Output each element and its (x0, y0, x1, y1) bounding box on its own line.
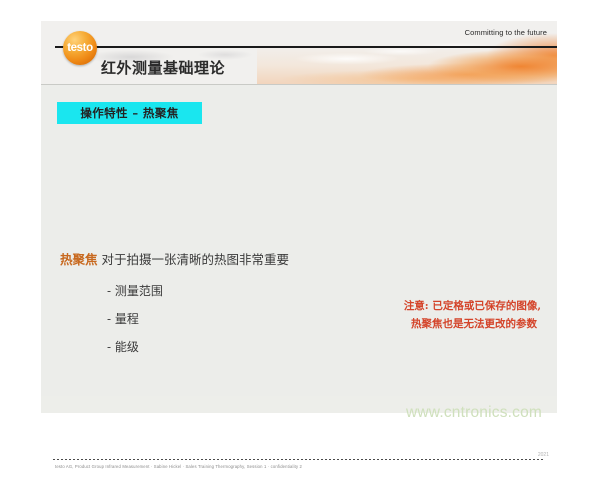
lead-statement: 热聚焦对于拍摄一张清晰的热图非常重要 (60, 249, 289, 268)
bullet-list: - 测量范围 - 量程 - 能级 (107, 277, 163, 361)
slide-body: 操作特性 – 热聚焦 热聚焦对于拍摄一张清晰的热图非常重要 - 测量范围 - 量… (41, 84, 557, 396)
header-rule (55, 46, 557, 48)
section-heading-banner: 操作特性 – 热聚焦 (57, 102, 202, 124)
testo-logo-label: testo (63, 42, 97, 54)
list-item: - 量程 (107, 305, 163, 333)
testo-logo-icon: testo (63, 31, 97, 65)
brand-tagline: Committing to the future (465, 28, 547, 37)
site-watermark: www.cntronics.com (406, 404, 542, 422)
page-title: 红外测量基础理论 (101, 57, 225, 78)
lead-keyword: 热聚焦 (60, 252, 98, 267)
warning-note: 注意: 已定格或已保存的图像, 热聚焦也是无法更改的参数 (211, 297, 541, 333)
list-item: - 能级 (107, 333, 163, 361)
slide-number: 2021 (538, 452, 549, 458)
warning-note-line-2: 热聚焦也是无法更改的参数 (211, 315, 541, 333)
section-heading-label: 操作特性 – 热聚焦 (57, 102, 202, 124)
footer-credit: testo AG, Product Group Infrared Measure… (55, 464, 302, 469)
lead-rest: 对于拍摄一张清晰的热图非常重要 (102, 252, 290, 267)
slide-header: Committing to the future testo 红外测量基础理论 (41, 21, 557, 84)
list-item: - 测量范围 (107, 277, 163, 305)
warning-note-line-1: 注意: 已定格或已保存的图像, (211, 297, 541, 315)
footer-divider (53, 459, 545, 460)
slide-canvas: Committing to the future testo 红外测量基础理论 … (41, 21, 557, 413)
slide-footer: testo AG, Product Group Infrared Measure… (41, 459, 557, 477)
